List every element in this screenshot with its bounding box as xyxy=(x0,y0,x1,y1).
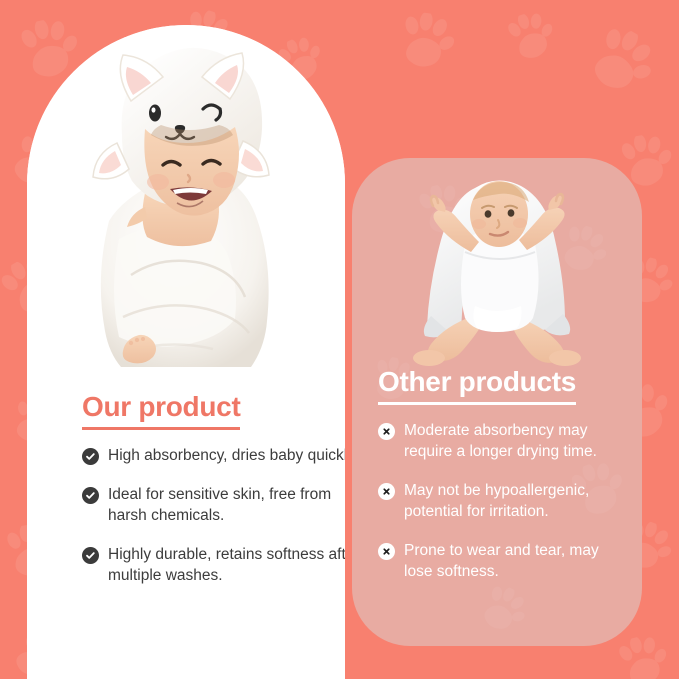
list-item: High absorbency, dries baby quickly. xyxy=(82,446,345,467)
other-products-bullet-list: Moderate absorbency may require a longer… xyxy=(378,421,628,583)
bullet-text: May not be hypoallergenic, potential for… xyxy=(404,481,628,523)
list-item: Prone to wear and tear, may lose softnes… xyxy=(378,541,628,583)
comparison-infographic: Our product High absorbency, dries baby … xyxy=(0,0,679,679)
bullet-text: Highly durable, retains softness after m… xyxy=(108,545,345,587)
baby-in-cat-hooded-towel-photo xyxy=(27,25,345,370)
bullet-text: Moderate absorbency may require a longer… xyxy=(404,421,628,463)
cross-circle-icon xyxy=(378,423,395,440)
our-product-bullet-list: High absorbency, dries baby quickly. Ide… xyxy=(82,446,345,587)
check-circle-icon xyxy=(82,487,99,504)
check-circle-icon xyxy=(82,448,99,465)
check-circle-icon xyxy=(82,547,99,564)
list-item: Moderate absorbency may require a longer… xyxy=(378,421,628,463)
cross-circle-icon xyxy=(378,483,395,500)
other-products-heading: Other products xyxy=(378,366,576,405)
our-product-column: Our product High absorbency, dries baby … xyxy=(82,391,345,605)
our-product-card: Our product High absorbency, dries baby … xyxy=(27,25,345,679)
cross-circle-icon xyxy=(378,543,395,560)
bullet-text: Prone to wear and tear, may lose softnes… xyxy=(404,541,628,583)
bullet-text: High absorbency, dries baby quickly. xyxy=(108,446,345,467)
other-products-column: Other products Moderate absorbency may r… xyxy=(378,366,628,601)
list-item: Ideal for sensitive skin, free from hars… xyxy=(82,485,345,527)
other-products-panel: Other products Moderate absorbency may r… xyxy=(352,158,642,646)
list-item: May not be hypoallergenic, potential for… xyxy=(378,481,628,523)
list-item: Highly durable, retains softness after m… xyxy=(82,545,345,587)
our-product-heading: Our product xyxy=(82,391,240,430)
baby-with-plain-towel-photo xyxy=(387,166,607,366)
bullet-text: Ideal for sensitive skin, free from hars… xyxy=(108,485,345,527)
